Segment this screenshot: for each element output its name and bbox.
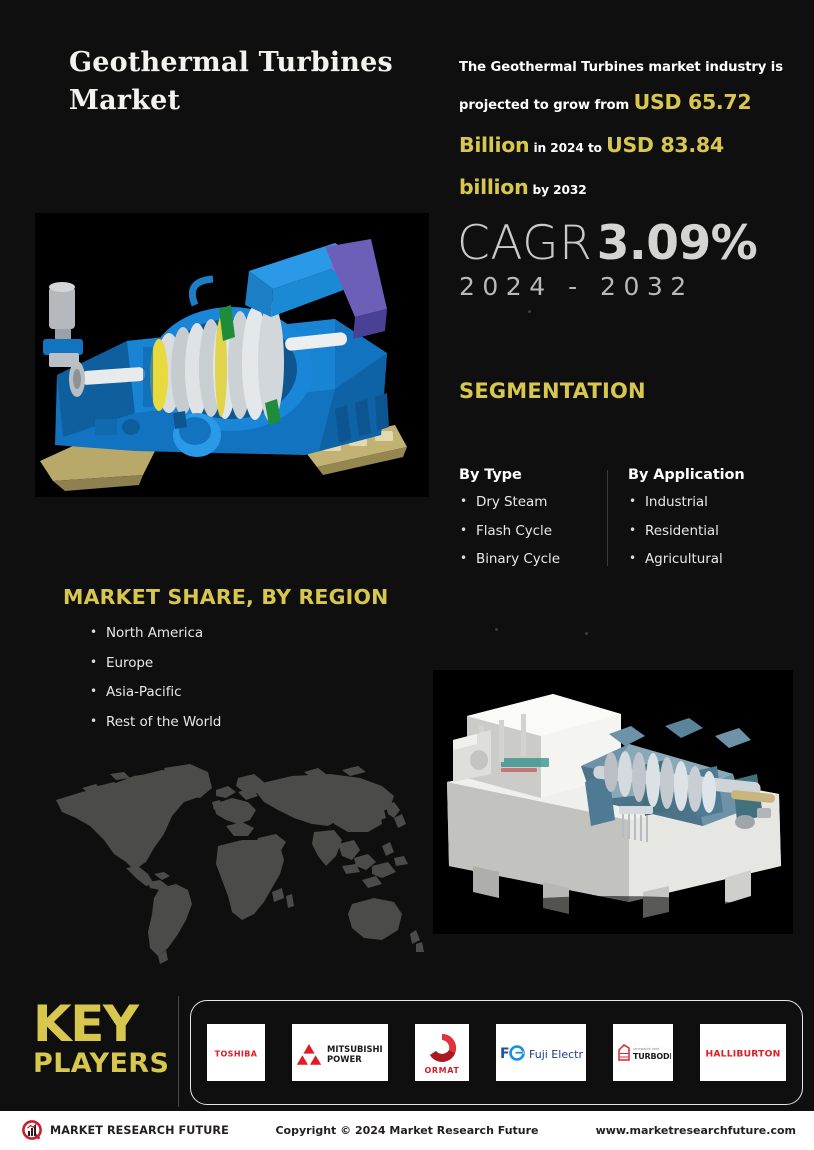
list-item: North America	[89, 627, 221, 641]
logo-mitsubishi-power[interactable]: MITSUBISHI POWER	[292, 1024, 388, 1081]
svg-text:ORMAT: ORMAT	[425, 1066, 460, 1075]
market-share-region-list: North America Europe Asia-Pacific Rest o…	[89, 627, 221, 745]
logo-fuji-electric[interactable]: F Fuji Electric	[496, 1024, 586, 1081]
logo-toshiba[interactable]: TOSHIBA	[207, 1024, 265, 1081]
segment-column-title: By Type	[459, 467, 599, 483]
world-map	[42, 762, 430, 980]
list-item: Dry Steam	[459, 496, 599, 510]
svg-text:F: F	[500, 1046, 510, 1062]
segment-item-list: Industrial Residential Agricultural	[628, 496, 788, 567]
svg-text:POWER: POWER	[327, 1054, 362, 1064]
key-players-heading: KEY PLAYERS	[33, 1000, 168, 1079]
segment-item-list: Dry Steam Flash Cycle Binary Cycle	[459, 496, 599, 567]
turbine-cutaway-image	[35, 213, 429, 497]
list-item: Europe	[89, 657, 221, 671]
blurb-part-2: in	[529, 141, 550, 155]
svg-text:renewable heat: renewable heat	[633, 1047, 660, 1051]
blurb-year-start: 2024	[550, 141, 584, 155]
blurb-part-4: by	[528, 183, 553, 197]
svg-text:TURBODEN: TURBODEN	[633, 1052, 671, 1061]
segment-column-title: By Application	[628, 467, 788, 483]
svg-text:MITSUBISHI: MITSUBISHI	[327, 1044, 383, 1054]
segmentation-column-by-type: By Type Dry Steam Flash Cycle Binary Cyc…	[459, 467, 599, 582]
cagr-block: CAGR 3.09%	[457, 216, 757, 271]
turbine-assembly-image	[433, 670, 793, 934]
decorative-dot	[495, 628, 498, 631]
svg-text:Fuji Electric: Fuji Electric	[529, 1048, 583, 1061]
footer-url[interactable]: www.marketresearchfuture.com	[596, 1124, 796, 1137]
key-players-heading-line2: PLAYERS	[33, 1048, 168, 1079]
segmentation-column-by-application: By Application Industrial Residential Ag…	[628, 467, 788, 582]
segmentation-column-divider	[607, 470, 608, 566]
list-item: Asia-Pacific	[89, 686, 221, 700]
logo-turboden[interactable]: renewable heat TURBODEN	[613, 1024, 673, 1081]
logo-ormat[interactable]: ORMAT	[415, 1024, 469, 1081]
segmentation-heading: SEGMENTATION	[459, 379, 646, 403]
logo-halliburton[interactable]: HALLIBURTON	[700, 1024, 786, 1081]
key-players-heading-line1: KEY	[33, 1000, 168, 1048]
svg-text:HALLIBURTON: HALLIBURTON	[705, 1048, 780, 1059]
page-title: Geothermal Turbines Market	[69, 44, 439, 121]
decorative-dot	[528, 310, 531, 313]
list-item: Binary Cycle	[459, 553, 599, 567]
svg-text:TOSHIBA: TOSHIBA	[215, 1049, 258, 1058]
blurb-year-end: 2032	[553, 183, 587, 197]
footer-bar: MARKET RESEARCH FUTURE Copyright © 2024 …	[0, 1111, 814, 1150]
market-share-heading: MARKET SHARE, BY REGION	[63, 585, 388, 609]
list-item: Agricultural	[628, 553, 788, 567]
list-item: Flash Cycle	[459, 525, 599, 539]
decorative-dot	[585, 632, 588, 635]
infographic-poster: Geothermal Turbines Market The Geotherma…	[0, 0, 814, 1150]
cagr-value: 3.09%	[597, 216, 758, 271]
list-item: Industrial	[628, 496, 788, 510]
cagr-period: 2024 - 2032	[459, 272, 694, 301]
key-players-divider	[178, 996, 179, 1107]
cagr-label: CAGR	[457, 216, 592, 271]
market-summary-text: The Geothermal Turbines market industry …	[459, 54, 799, 209]
list-item: Rest of the World	[89, 716, 221, 730]
blurb-part-3: to	[584, 141, 606, 155]
list-item: Residential	[628, 525, 788, 539]
key-players-logo-box: TOSHIBA MITSUBISHI POWER	[190, 1000, 803, 1105]
